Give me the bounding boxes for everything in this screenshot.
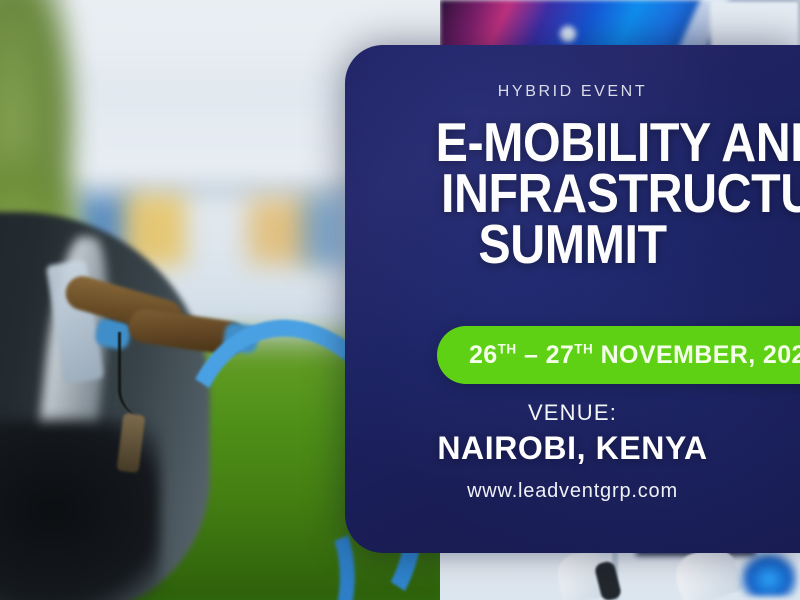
title-line-1: E-MOBILITY AND	[436, 117, 773, 168]
date-day-end-ordinal: TH	[574, 341, 593, 356]
light-spark	[560, 26, 576, 42]
page-title: E-MOBILITY AND INFRASTRUCTURE AFR SUMMIT	[372, 117, 772, 270]
title-line-3: SUMMIT	[372, 219, 772, 270]
date-month-year: NOVEMBER, 2025	[593, 341, 800, 369]
card-content: HYBRID EVENT E-MOBILITY AND INFRASTRUCTU…	[345, 45, 800, 553]
charger-indicator-glow	[740, 552, 798, 596]
event-banner: HYBRID EVENT E-MOBILITY AND INFRASTRUCTU…	[0, 0, 800, 600]
event-date-text: 26TH – 27TH NOVEMBER, 2025	[469, 341, 800, 370]
tether-wire	[118, 332, 147, 418]
date-separator: –	[517, 341, 546, 369]
date-day-start: 26	[469, 341, 498, 369]
venue-label: VENUE:	[345, 400, 800, 426]
event-format-kicker: HYBRID EVENT	[345, 83, 800, 101]
website-url[interactable]: www.leadventgrp.com	[345, 480, 800, 503]
title-line-2: INFRASTRUCTURE AFR	[441, 168, 773, 219]
event-date-badge: 26TH – 27TH NOVEMBER, 2025	[437, 326, 800, 384]
background-blur-patch	[300, 196, 348, 266]
event-info-card: HYBRID EVENT E-MOBILITY AND INFRASTRUCTU…	[345, 45, 800, 553]
date-day-end: 27	[546, 341, 575, 369]
venue-city: NAIROBI, KENYA	[345, 430, 800, 467]
date-day-start-ordinal: TH	[498, 341, 517, 356]
